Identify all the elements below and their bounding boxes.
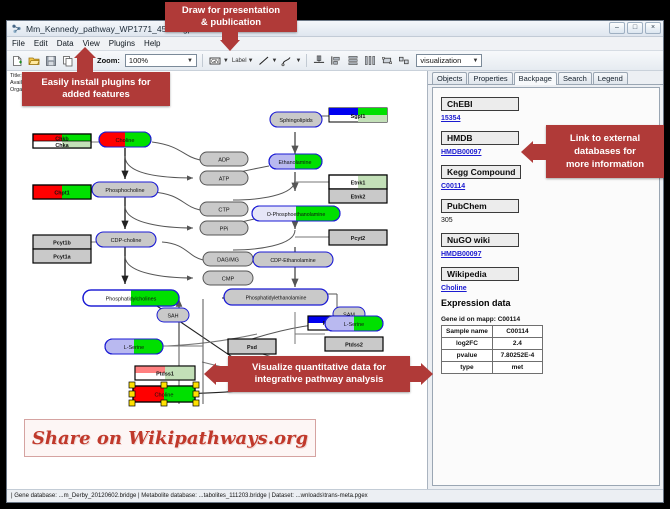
svg-text:L-Serine: L-Serine (124, 345, 144, 351)
app-icon (11, 23, 22, 34)
node-sah[interactable]: SAH (157, 308, 189, 322)
datanode-tool[interactable]: GN ▼ (208, 54, 229, 68)
table-row: pvalue 7.80252E-4 (442, 350, 543, 362)
menu-help[interactable]: Help (144, 39, 165, 48)
menu-plugins[interactable]: Plugins (109, 39, 140, 48)
db-name-chebi: ChEBI (441, 97, 519, 111)
node-psd[interactable]: Psd (228, 339, 276, 354)
svg-text:DAG/MG: DAG/MG (217, 258, 239, 264)
callout-links-text: Link to externaldatabases formore inform… (566, 132, 644, 171)
svg-text:Etnk1: Etnk1 (351, 181, 366, 187)
db-name-kegg: Kegg Compound (441, 165, 521, 179)
chevron-down-icon[interactable]: ▼ (272, 58, 278, 64)
chevron-down-icon[interactable]: ▼ (223, 58, 229, 64)
status-bar: | Gene database: ...m_Derby_20120602.bri… (7, 489, 663, 502)
expr-val-log2fc: 2.4 (492, 338, 542, 350)
db-block-nugo: NuGO wiki HMDB00097 (441, 230, 659, 258)
stack-vertical-icon[interactable] (346, 54, 360, 68)
node-phosphatidylcholines[interactable]: Phosphatidylcholines (83, 290, 179, 306)
node-adp[interactable]: ADP (200, 152, 248, 166)
toolbar: Zoom: 100% ▼ GN ▼ Label ▼ ▼ ▼ (7, 51, 663, 71)
node-ctp[interactable]: CTP (200, 202, 248, 216)
copy-icon[interactable] (61, 54, 75, 68)
callout-visualize-arrow-head-r (421, 363, 433, 385)
expr-key-sample: Sample name (442, 326, 493, 338)
db-name-pubchem: PubChem (441, 199, 519, 213)
tab-properties[interactable]: Properties (468, 72, 512, 84)
svg-text:PPi: PPi (220, 227, 229, 233)
node-sgpl1[interactable]: Sgpl1 (329, 108, 387, 122)
svg-text:Choline: Choline (155, 393, 174, 399)
expr-key-log2fc: log2FC (442, 338, 493, 350)
node-chpt1[interactable]: Chpt1 (33, 185, 91, 199)
callout-plugins-arrow-stem (77, 57, 93, 72)
tab-objects[interactable]: Objects (432, 72, 467, 84)
svg-text:Pcyt1b: Pcyt1b (53, 241, 71, 247)
node-choline-selected[interactable]: Choline (129, 382, 199, 406)
ungroup-icon[interactable] (397, 54, 411, 68)
menu-edit[interactable]: Edit (34, 39, 53, 48)
share-banner-text: Share on Wikipathways.org (32, 428, 308, 449)
db-link-wikipedia[interactable]: Choline (441, 285, 659, 292)
node-pcyt1b-pcyt1a[interactable]: Pcyt1b Pcyt1a (33, 235, 91, 263)
chevron-down-icon[interactable]: ▼ (295, 58, 301, 64)
status-text: | Gene database: ...m_Derby_20120602.bri… (11, 493, 368, 499)
label-tool[interactable]: Label ▼ (232, 58, 254, 64)
db-name-nugo: NuGO wiki (441, 233, 519, 247)
callout-visualize-arrow-stem-l (216, 366, 229, 382)
title-bar: Mm_Kennedy_pathway_WP1771_45176.gpml – □… (7, 21, 663, 37)
table-row: log2FC 2.4 (442, 338, 543, 350)
svg-text:O-Phosphoethanolamine: O-Phosphoethanolamine (267, 212, 326, 218)
svg-text:Ptdss2: Ptdss2 (345, 343, 363, 349)
callout-plugins-text: Easily install plugins foradded features (41, 77, 150, 101)
expr-key-pvalue: pvalue (442, 350, 493, 362)
db-link-chebi[interactable]: 15354 (441, 115, 659, 122)
callout-visualize-text: Visualize quantitative data forintegrati… (252, 362, 386, 386)
svg-text:Sgpl1: Sgpl1 (351, 114, 366, 120)
db-name-wikipedia: Wikipedia (441, 267, 519, 281)
svg-text:CMP: CMP (222, 277, 235, 283)
callout-visualize: Visualize quantitative data forintegrati… (228, 356, 410, 392)
node-ppi[interactable]: PPi (200, 221, 248, 235)
node-l-serine-right[interactable]: L-Serine (325, 316, 383, 331)
svg-text:Chka: Chka (55, 143, 69, 149)
callout-plugins: Easily install plugins foradded features (22, 72, 170, 106)
svg-text:Choline: Choline (116, 138, 135, 144)
db-name-hmdb: HMDB (441, 131, 519, 145)
svg-text:Ptdss1: Ptdss1 (156, 372, 174, 378)
open-file-icon[interactable] (27, 54, 41, 68)
menu-bar: File Edit Data View Plugins Help (7, 37, 663, 51)
zoom-label: Zoom: (97, 56, 120, 65)
node-etnk1-etnk2[interactable]: Etnk1 Etnk2 (329, 175, 387, 203)
visualization-combo[interactable]: visualization ▼ (416, 54, 482, 67)
svg-text:CDP-Ethanolamine: CDP-Ethanolamine (270, 258, 315, 264)
node-dagmg[interactable]: DAG/MG (203, 252, 253, 266)
svg-text:L-Serine: L-Serine (344, 322, 364, 328)
node-cmp[interactable]: CMP (203, 271, 253, 285)
distribute-horizontal-icon[interactable] (363, 54, 377, 68)
node-l-serine-left[interactable]: L-Serine (105, 339, 163, 354)
datanode-icon[interactable]: GN (208, 54, 222, 68)
chevron-down-icon: ▼ (185, 58, 195, 64)
svg-text:CTP: CTP (218, 208, 229, 214)
node-atp[interactable]: ATP (200, 171, 248, 185)
label-tool-label: Label (232, 58, 247, 64)
node-o-phosphoethanolamine[interactable]: O-Phosphoethanolamine (252, 206, 340, 221)
callout-draw: Draw for presentation& publication (165, 2, 297, 32)
expression-data-heading: Expression data (441, 298, 659, 308)
node-choline-top[interactable]: Choline (99, 132, 151, 147)
close-button[interactable]: × (645, 22, 661, 34)
svg-text:Pcyt2: Pcyt2 (351, 236, 365, 242)
expr-key-type: type (442, 362, 493, 374)
svg-text:Phosphatidylethanolamine: Phosphatidylethanolamine (246, 296, 307, 302)
svg-text:CDP-choline: CDP-choline (111, 238, 142, 244)
callout-draw-arrow-head (220, 40, 240, 51)
zoom-combo[interactable]: 100% ▼ (125, 54, 197, 67)
node-chkb-chka[interactable]: Chkb Chka (33, 134, 91, 149)
db-block-wikipedia: Wikipedia Choline (441, 264, 659, 292)
svg-text:Ethanolamine: Ethanolamine (279, 160, 312, 166)
interaction-tool[interactable]: ▼ (280, 54, 301, 68)
callout-links: Link to externaldatabases formore inform… (546, 125, 664, 178)
gene-id-label: Gene id on mapp: C00114 (441, 316, 659, 323)
db-value-pubchem: 305 (441, 217, 659, 224)
db-link-kegg[interactable]: C00114 (441, 183, 659, 190)
svg-text:Etnk2: Etnk2 (351, 195, 366, 201)
svg-text:Phosphatidylcholines: Phosphatidylcholines (106, 297, 157, 303)
callout-links-arrow-head (521, 141, 533, 163)
align-left-icon[interactable] (329, 54, 343, 68)
svg-text:ADP: ADP (218, 158, 230, 164)
node-phosphatidylethanolamine[interactable]: Phosphatidylethanolamine (224, 289, 328, 305)
expression-table: Sample name C00114 log2FC 2.4 pvalue 7.8… (441, 325, 543, 374)
visualization-value: visualization (420, 56, 461, 65)
callout-draw-text: Draw for presentation& publication (182, 5, 280, 29)
svg-text:Pcyt1a: Pcyt1a (53, 255, 71, 261)
callout-draw-arrow-stem (222, 32, 238, 40)
db-block-pubchem: PubChem 305 (441, 196, 659, 224)
new-file-icon[interactable] (10, 54, 24, 68)
side-panel-tabs: Objects Properties Backpage Search Legen… (428, 71, 663, 85)
node-ptdss1[interactable]: Ptdss1 (135, 366, 195, 380)
svg-text:SAH: SAH (167, 314, 178, 320)
chevron-down-icon[interactable]: ▼ (248, 58, 254, 64)
maximize-button[interactable]: □ (627, 22, 643, 34)
menu-file[interactable]: File (12, 39, 30, 48)
line-tool[interactable]: ▼ (257, 54, 278, 68)
save-file-icon[interactable] (44, 54, 58, 68)
node-ethanolamine-top[interactable]: Ethanolamine (269, 154, 322, 169)
minimize-button[interactable]: – (609, 22, 625, 34)
node-cdp-choline[interactable]: CDP-choline (96, 232, 156, 247)
callout-plugins-arrow-head (74, 47, 96, 58)
toolbar-separator (306, 54, 307, 67)
db-block-chebi: ChEBI 15354 (441, 94, 659, 122)
toolbar-separator (202, 54, 203, 67)
group-icon[interactable] (380, 54, 394, 68)
tab-search[interactable]: Search (558, 72, 592, 84)
expr-val-sample: C00114 (492, 326, 542, 338)
svg-text:ATP: ATP (219, 177, 230, 183)
callout-links-arrow-stem (533, 144, 547, 160)
node-sphingolipids[interactable]: Sphingolipids (270, 112, 322, 127)
share-banner: Share on Wikipathways.org (24, 419, 316, 457)
tab-backpage[interactable]: Backpage (514, 72, 557, 85)
expr-val-pvalue: 7.80252E-4 (492, 350, 542, 362)
chevron-down-icon: ▼ (470, 58, 480, 64)
svg-text:Sphingolipids: Sphingolipids (279, 118, 312, 124)
align-top-icon[interactable] (312, 54, 326, 68)
db-link-nugo[interactable]: HMDB00097 (441, 251, 659, 258)
zoom-value: 100% (129, 56, 148, 65)
line-icon[interactable] (257, 54, 271, 68)
table-row: type met (442, 362, 543, 374)
expr-val-type: met (492, 362, 542, 374)
window-controls: – □ × (609, 22, 661, 34)
table-row: Sample name C00114 (442, 326, 543, 338)
svg-text:Phosphocholine: Phosphocholine (105, 188, 144, 194)
svg-text:Psd: Psd (247, 345, 257, 351)
node-pcyt2[interactable]: Pcyt2 (329, 230, 387, 245)
node-phosphocholine[interactable]: Phosphocholine (92, 182, 158, 197)
svg-text:GN: GN (211, 59, 219, 65)
tab-legend[interactable]: Legend (593, 72, 628, 84)
callout-visualize-arrow-head-l (204, 363, 216, 385)
svg-text:Chpt1: Chpt1 (54, 191, 69, 197)
node-ptdss2[interactable]: Ptdss2 (325, 337, 383, 351)
node-cdp-ethanolamine[interactable]: CDP-Ethanolamine (253, 252, 333, 267)
interaction-icon[interactable] (280, 54, 294, 68)
